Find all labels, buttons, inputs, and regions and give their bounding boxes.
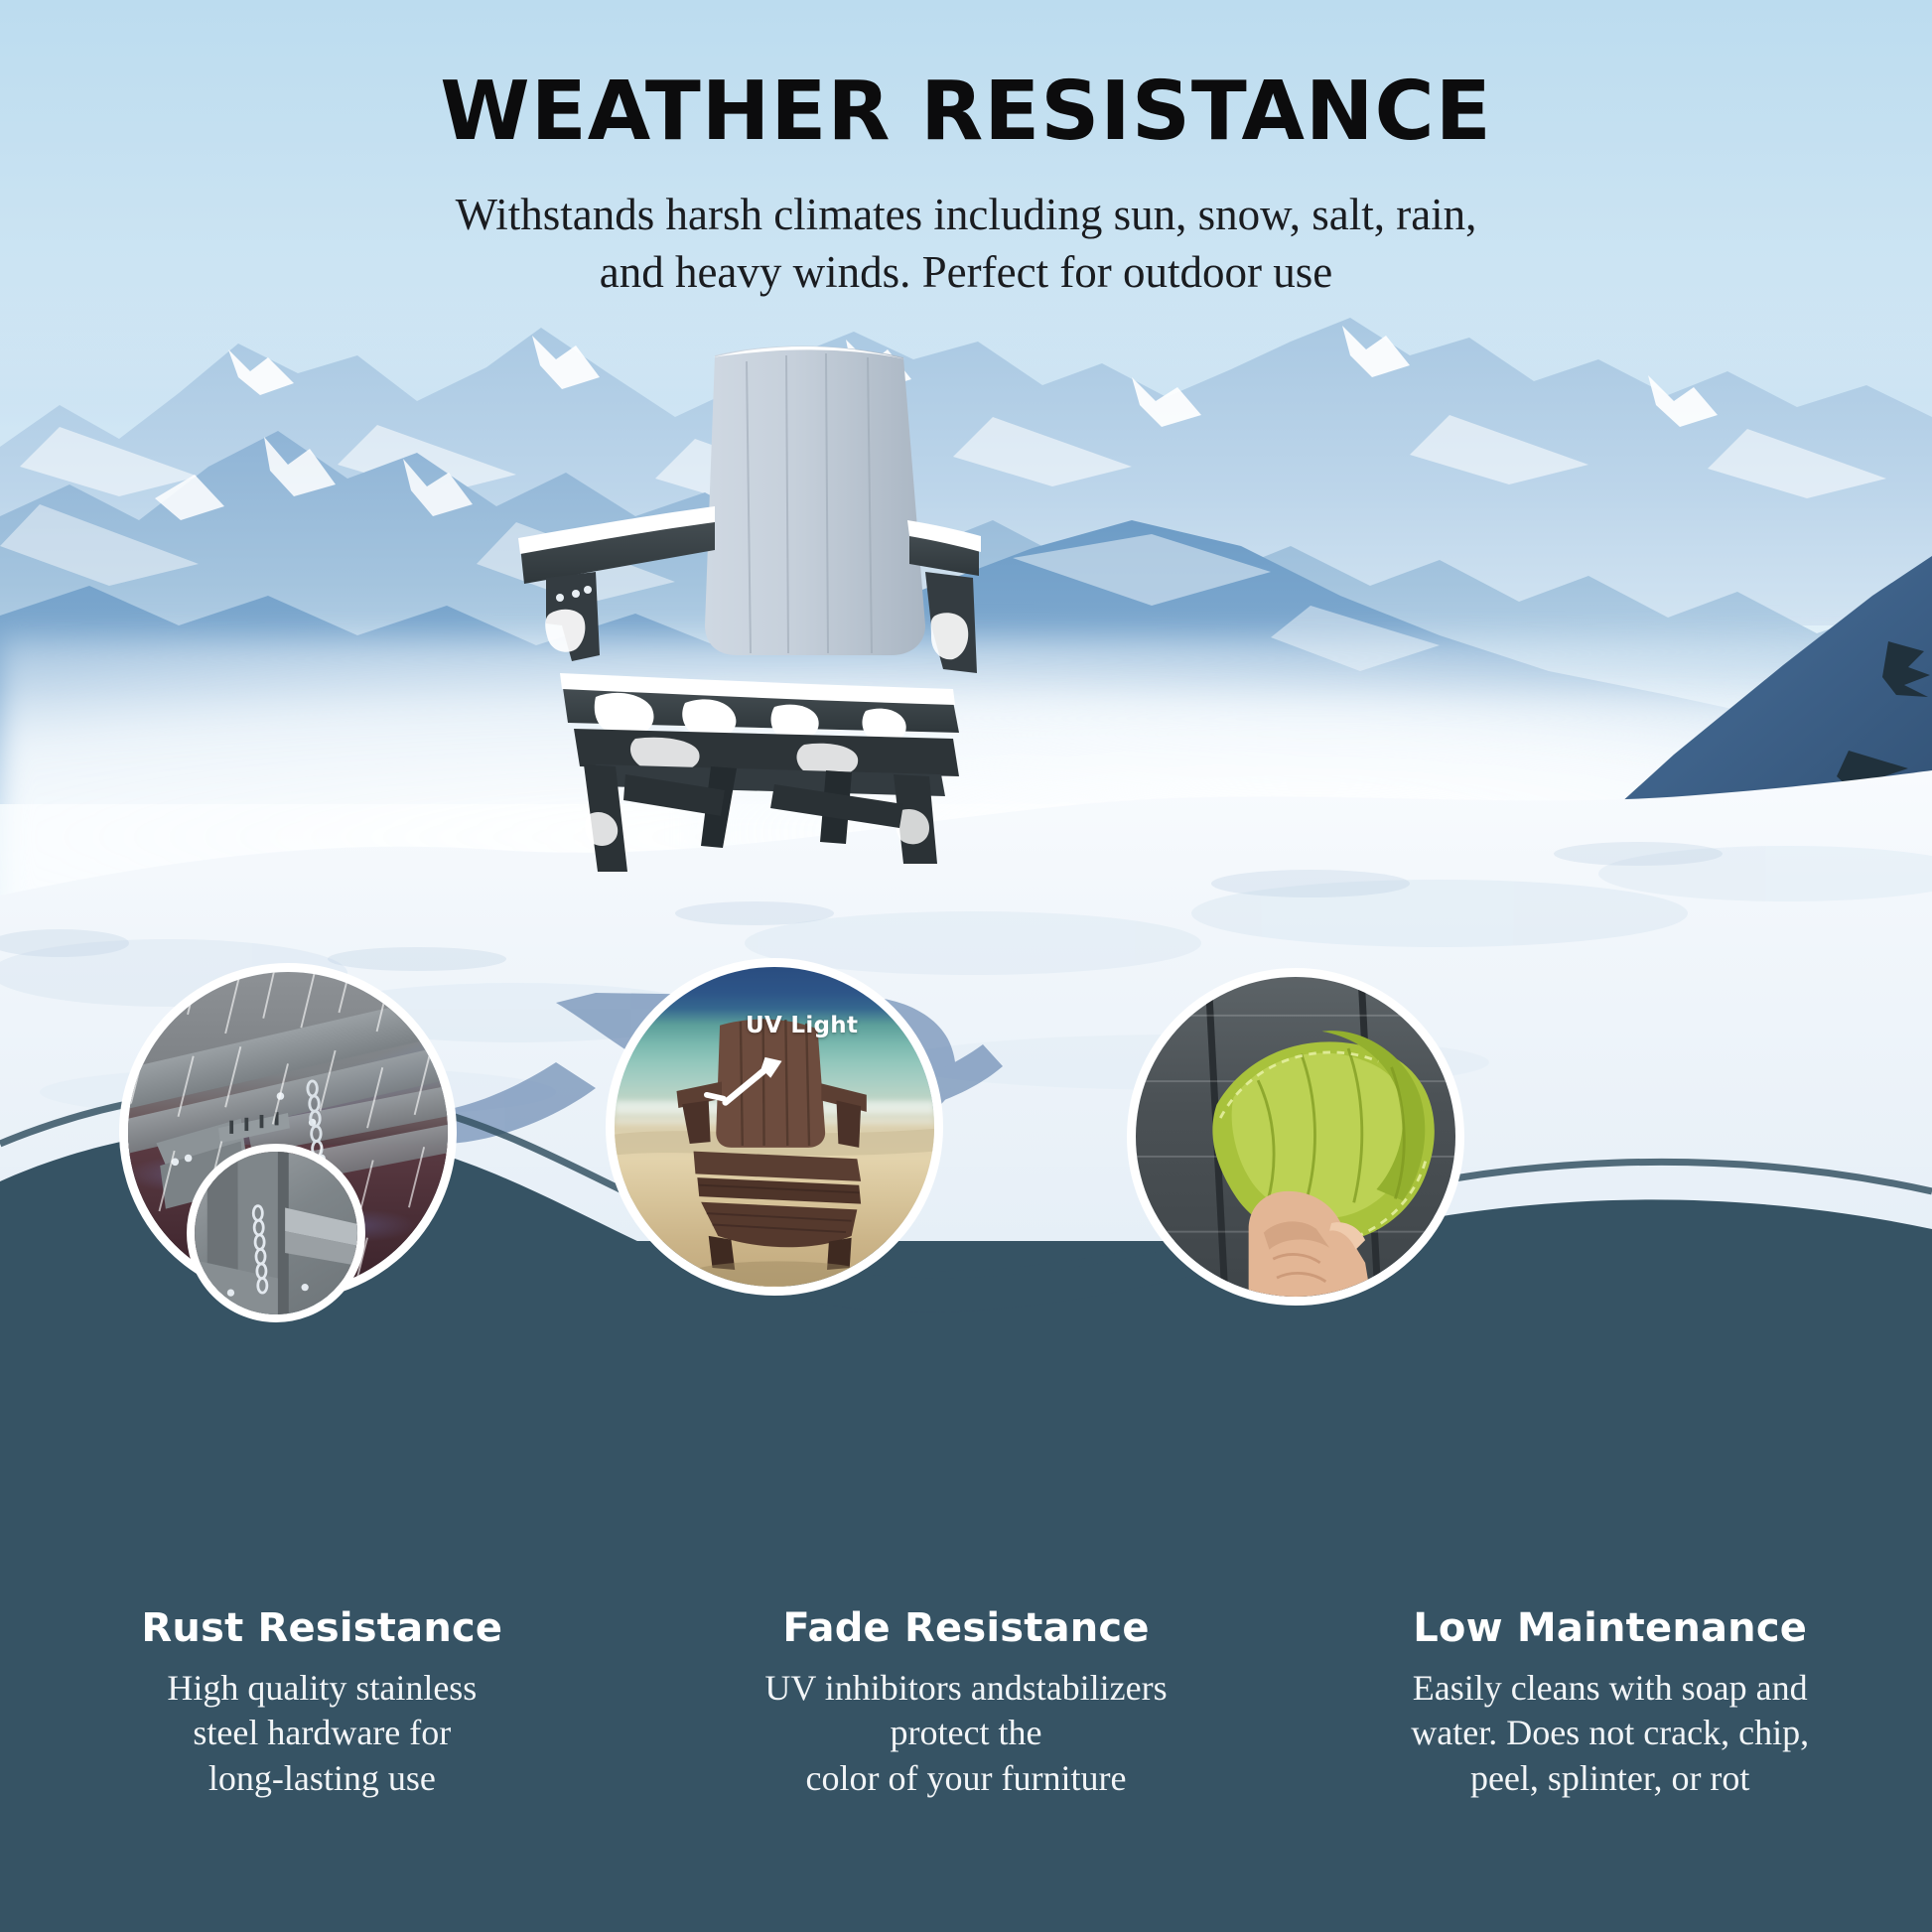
feature-desc-line-1: Easily cleans with soap and — [1321, 1666, 1898, 1711]
feature-desc-line-3: long-lasting use — [34, 1756, 611, 1801]
adirondack-chair — [477, 328, 1042, 923]
page-subtitle: Withstands harsh climates including sun,… — [271, 187, 1661, 301]
subtitle-line-2: and heavy winds. Perfect for outdoor use — [271, 244, 1661, 302]
feature-title: Rust Resistance — [34, 1608, 611, 1648]
feature-column-fade-resistance: Fade Resistance UV inhibitors andstabili… — [644, 1608, 1289, 1906]
feature-column-rust-resistance: Rust Resistance High quality stainless s… — [0, 1608, 644, 1906]
subtitle-line-1: Withstands harsh climates including sun,… — [271, 187, 1661, 244]
feature-image-low-maintenance — [1127, 968, 1464, 1306]
feature-desc-line-1: UV inhibitors andstabilizers — [678, 1666, 1255, 1711]
feature-desc-line-2: steel hardware for — [34, 1711, 611, 1755]
feature-desc-line-2: water. Does not crack, chip, — [1321, 1711, 1898, 1755]
feature-image-fade-resistance: UV Light — [606, 958, 943, 1296]
feature-description: High quality stainless steel hardware fo… — [34, 1666, 611, 1801]
feature-title: Fade Resistance — [678, 1608, 1255, 1648]
feature-description: UV inhibitors andstabilizers protect the… — [678, 1666, 1255, 1801]
feature-desc-line-1: High quality stainless — [34, 1666, 611, 1711]
infographic-root: UV Light — [0, 0, 1932, 1932]
feature-image-hardware-closeup — [187, 1144, 365, 1322]
feature-desc-line-3: color of your furniture — [678, 1756, 1255, 1801]
feature-description: Easily cleans with soap and water. Does … — [1321, 1666, 1898, 1801]
uv-light-label: UV Light — [746, 1013, 858, 1038]
feature-columns: Rust Resistance High quality stainless s… — [0, 1608, 1932, 1906]
feature-desc-line-2: protect the — [678, 1711, 1255, 1755]
page-title: WEATHER RESISTANCE — [0, 71, 1932, 153]
feature-title: Low Maintenance — [1321, 1608, 1898, 1648]
feature-column-low-maintenance: Low Maintenance Easily cleans with soap … — [1288, 1608, 1932, 1906]
feature-desc-line-3: peel, splinter, or rot — [1321, 1756, 1898, 1801]
